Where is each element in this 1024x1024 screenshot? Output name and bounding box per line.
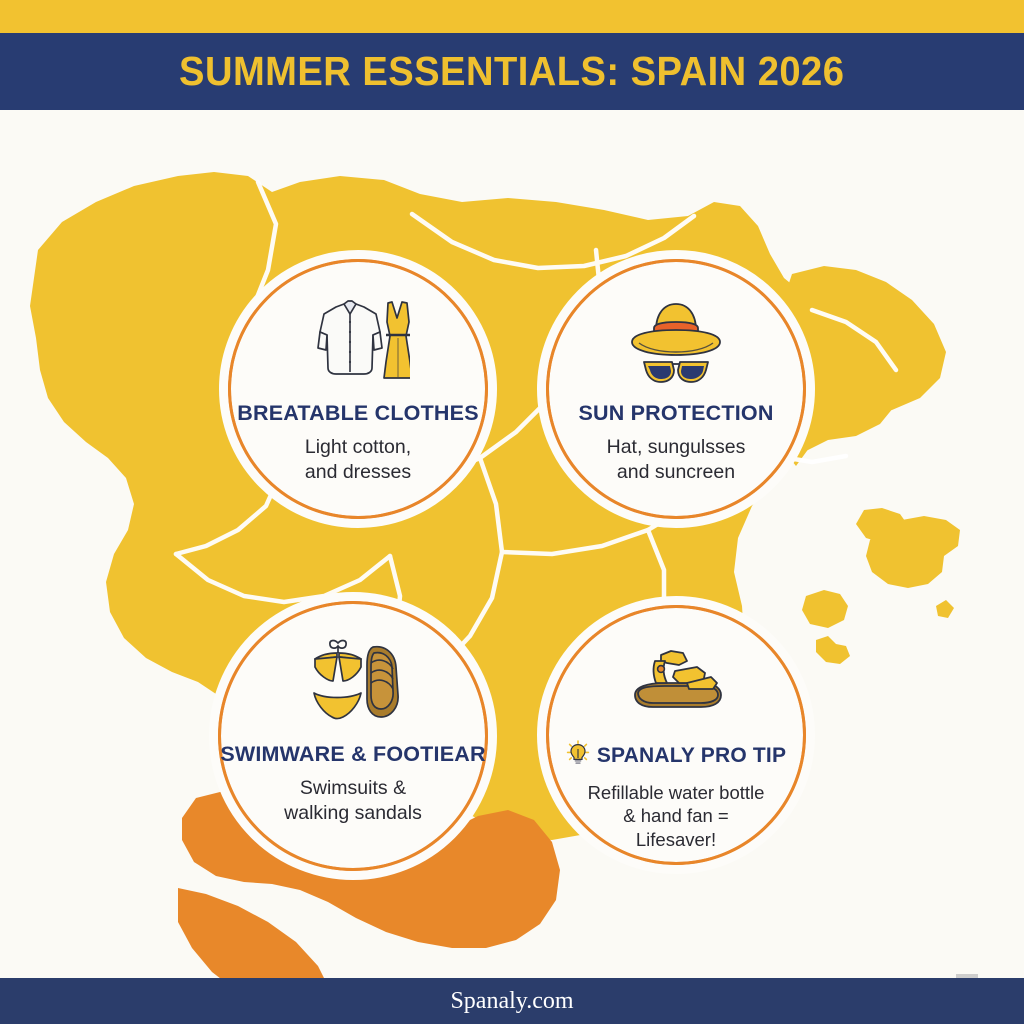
bubble-title: SWIMWARE & FOOTIEAR (220, 742, 485, 767)
infographic-canvas: SUMMER ESSENTIALS: SPAIN 2026 (0, 0, 1024, 1024)
top-accent-strip (0, 0, 1024, 33)
bubble-description: Swimsuits & walking sandals (284, 776, 422, 826)
bubble-title: SPANALY PRO TIP (566, 740, 786, 772)
info-bubble-spanaly-pro-tip[interactable]: SPANALY PRO TIP Refillable water bottle … (537, 596, 815, 874)
spain-map (0, 110, 1024, 978)
bubble-description: Hat, sungulsses and suncreen (607, 435, 746, 485)
map-balearic-islands (802, 508, 960, 664)
info-bubble-breathable-clothes[interactable]: BREATABLE CLOTHES Light cotton, and dres… (219, 250, 497, 528)
page-title: SUMMER ESSENTIALS: SPAIN 2026 (179, 48, 844, 95)
bubble-description: Light cotton, and dresses (305, 435, 411, 485)
lightbulb-icon (566, 740, 590, 772)
hat-and-sunglasses-icon (623, 295, 729, 387)
bubble-title-text: SPANALY PRO TIP (597, 744, 786, 768)
bubble-description: Refillable water bottle & hand fan = Lif… (588, 781, 765, 852)
bikini-and-sandal-icon (301, 636, 405, 728)
footer-banner: Spanaly.com (0, 978, 1024, 1024)
bubble-title: SUN PROTECTION (578, 401, 773, 426)
bubble-title: BREATABLE CLOTHES (237, 401, 479, 426)
site-url: Spanaly.com (450, 988, 573, 1015)
info-bubble-sun-protection[interactable]: SUN PROTECTION Hat, sungulsses and suncr… (537, 250, 815, 528)
info-bubble-swimware-footiear[interactable]: SWIMWARE & FOOTIEAR Swimsuits & walking … (209, 592, 497, 880)
sandal-icon (625, 634, 727, 726)
header-banner: SUMMER ESSENTIALS: SPAIN 2026 (0, 33, 1024, 110)
shirt-and-dress-icon (306, 295, 410, 387)
